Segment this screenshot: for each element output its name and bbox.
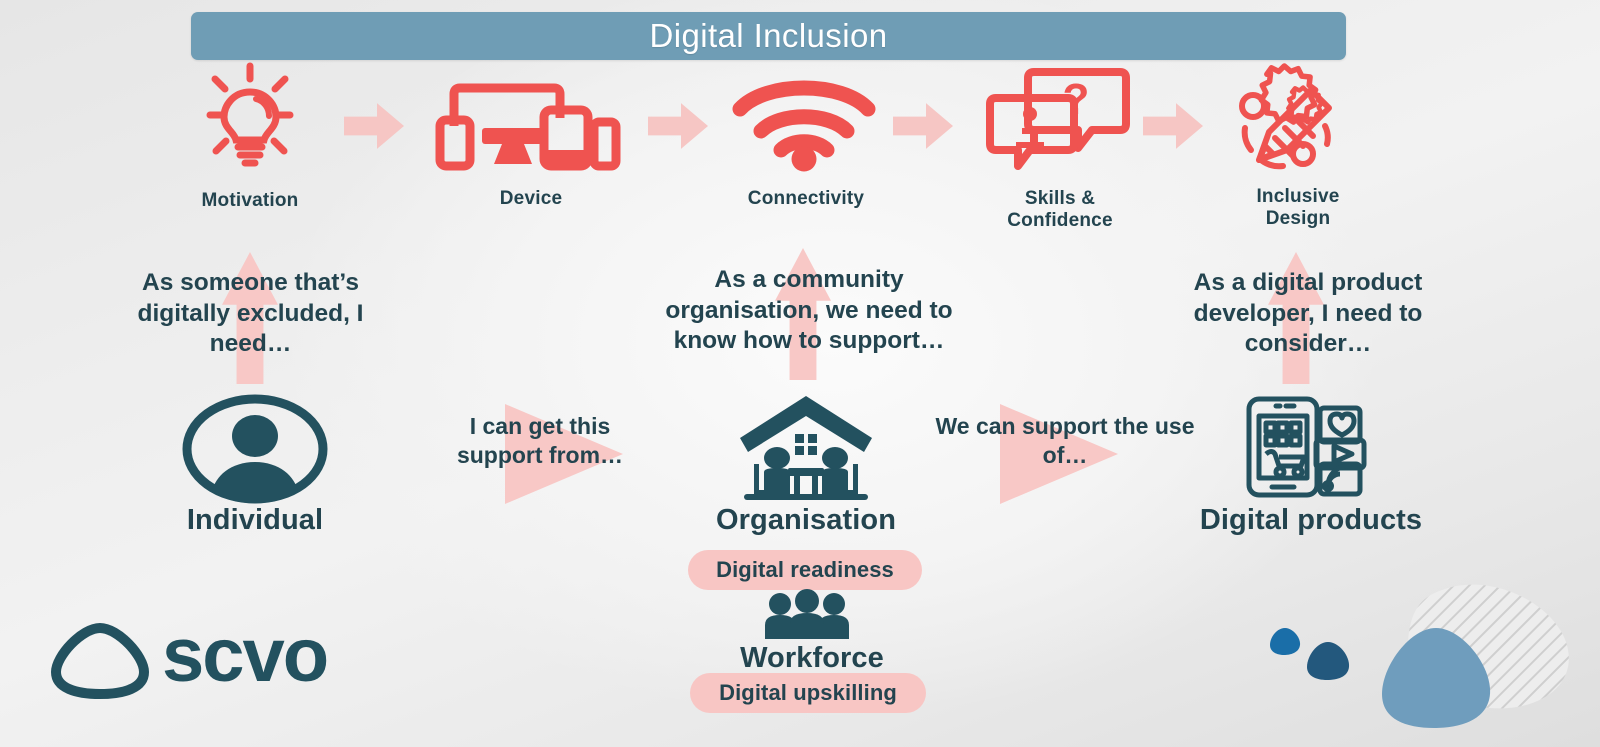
slide-canvas: Digital Inclusion Motivation [0, 0, 1600, 747]
quote-individual: As someone that’s digitally excluded, I … [118, 268, 383, 360]
entity-label-digital-products: Digital products [1180, 504, 1442, 538]
step-label-connectivity: Connectivity [716, 188, 896, 210]
organisation-house-icon [738, 394, 874, 500]
step-label-device: Device [443, 188, 619, 210]
scvo-triangle-icon [48, 622, 152, 700]
entity-label-organisation: Organisation [700, 504, 912, 538]
step-label-motivation: Motivation [160, 190, 340, 212]
decorative-triangle-medium [1304, 640, 1352, 682]
entity-label-individual: Individual [160, 504, 350, 538]
quote-support-use: We can support the use of… [930, 412, 1200, 470]
arrow-right-icon [344, 100, 404, 152]
quote-support-from: I can get this support from… [430, 412, 650, 470]
devices-icon [436, 78, 618, 168]
arrow-right-icon [1143, 100, 1203, 152]
decorative-triangle-small [1268, 626, 1302, 656]
arrow-right-icon [893, 100, 953, 152]
digital-products-icon [1246, 396, 1376, 498]
people-group-icon [762, 592, 852, 642]
quote-organisation: As a community organisation, we need to … [644, 265, 974, 357]
lightbulb-icon [186, 62, 314, 172]
workforce-label: Workforce [706, 642, 918, 676]
wifi-icon [728, 72, 880, 168]
person-avatar-icon [182, 396, 328, 502]
badge-digital-readiness: Digital readiness [688, 550, 922, 590]
speech-bubbles-icon: ? [986, 62, 1132, 172]
slide-title-bar: Digital Inclusion [191, 12, 1346, 60]
badge-digital-readiness-label: Digital readiness [716, 557, 894, 583]
page-title: Digital Inclusion [650, 17, 888, 55]
decorative-triangle-large [1376, 624, 1496, 734]
quote-developer: As a digital product developer, I need t… [1163, 268, 1453, 360]
svg-text:?: ? [1063, 75, 1090, 124]
step-label-skills-confidence: Skills & Confidence [965, 188, 1155, 232]
badge-digital-upskilling-label: Digital upskilling [719, 680, 897, 706]
badge-digital-upskilling: Digital upskilling [690, 673, 926, 713]
arrow-right-icon [648, 100, 708, 152]
pencil-gears-icon [1225, 60, 1351, 172]
step-label-inclusive-design: Inclusive Design [1205, 186, 1391, 230]
scvo-wordmark: scvo [162, 618, 327, 694]
